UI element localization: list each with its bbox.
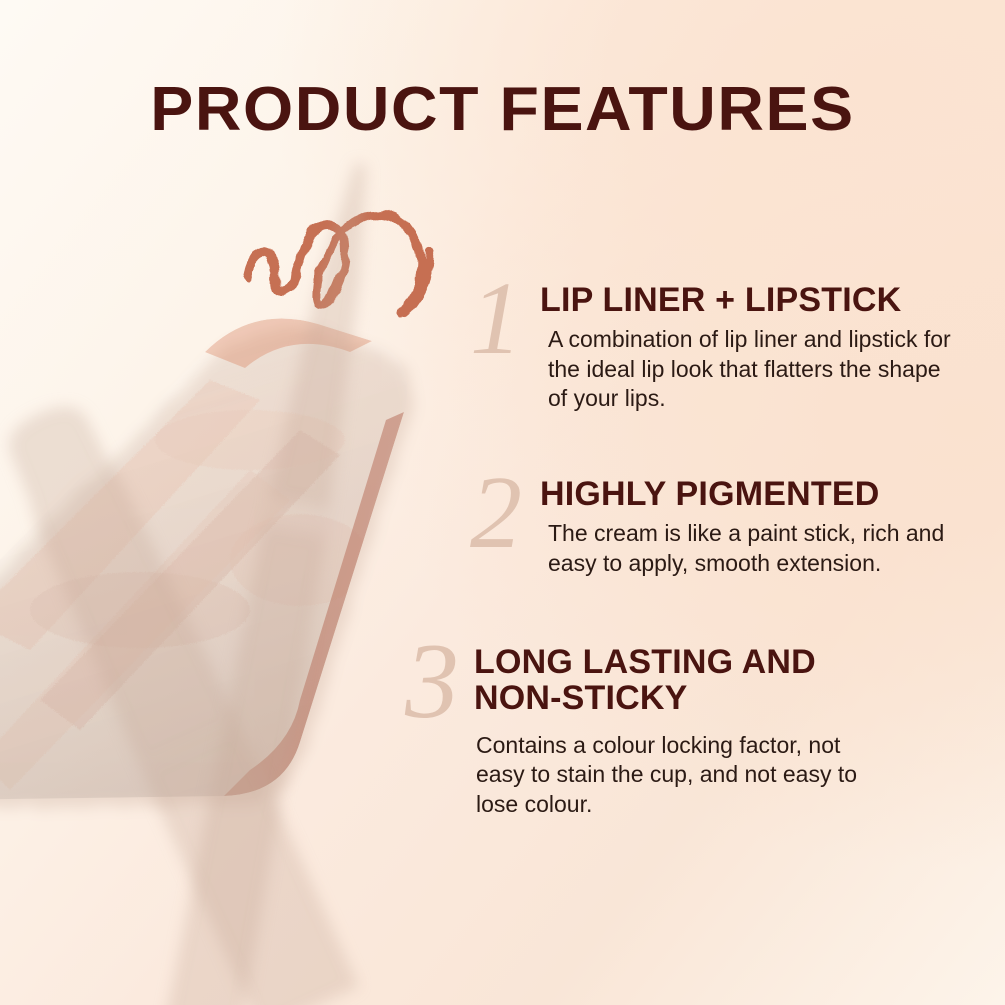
lipstick-stick-pen <box>0 382 354 1005</box>
feature-item-1: 1 LIP LINER + LIPSTICK A combination of … <box>462 276 958 414</box>
feature-heading-2: HIGHLY PIGMENTED <box>540 476 968 512</box>
feature-number-1: 1 <box>462 276 530 361</box>
brand-text-on-pencil: BEST BEAUTY <box>237 617 289 783</box>
feature-description-2: The cream is like a paint stick, rich an… <box>540 519 968 578</box>
feature-item-2: 2 HIGHLY PIGMENTED The cream is like a p… <box>462 470 968 578</box>
lipstick-smear <box>0 319 407 800</box>
lip-liner-pencil: BEST BEAUTY <box>160 147 396 1005</box>
feature-number-3: 3 <box>398 638 466 727</box>
feature-description-1: A combination of lip liner and lipstick … <box>540 325 958 413</box>
product-features-poster: BEST BEAUTY PRODUCT FEATURES 1 LIP LINER… <box>0 0 1005 1005</box>
feature-item-3: 3 LONG LASTING AND NON-STICKY Contains a… <box>398 638 876 819</box>
feature-description-3: Contains a colour locking factor, not ea… <box>474 731 876 819</box>
feature-number-2: 2 <box>462 470 530 555</box>
liner-scribble-swatch <box>247 213 430 313</box>
feature-heading-3: LONG LASTING AND NON-STICKY <box>474 644 876 717</box>
feature-heading-1: LIP LINER + LIPSTICK <box>540 282 958 318</box>
page-title: PRODUCT FEATURES <box>0 74 1005 145</box>
smear-texture <box>0 300 440 820</box>
